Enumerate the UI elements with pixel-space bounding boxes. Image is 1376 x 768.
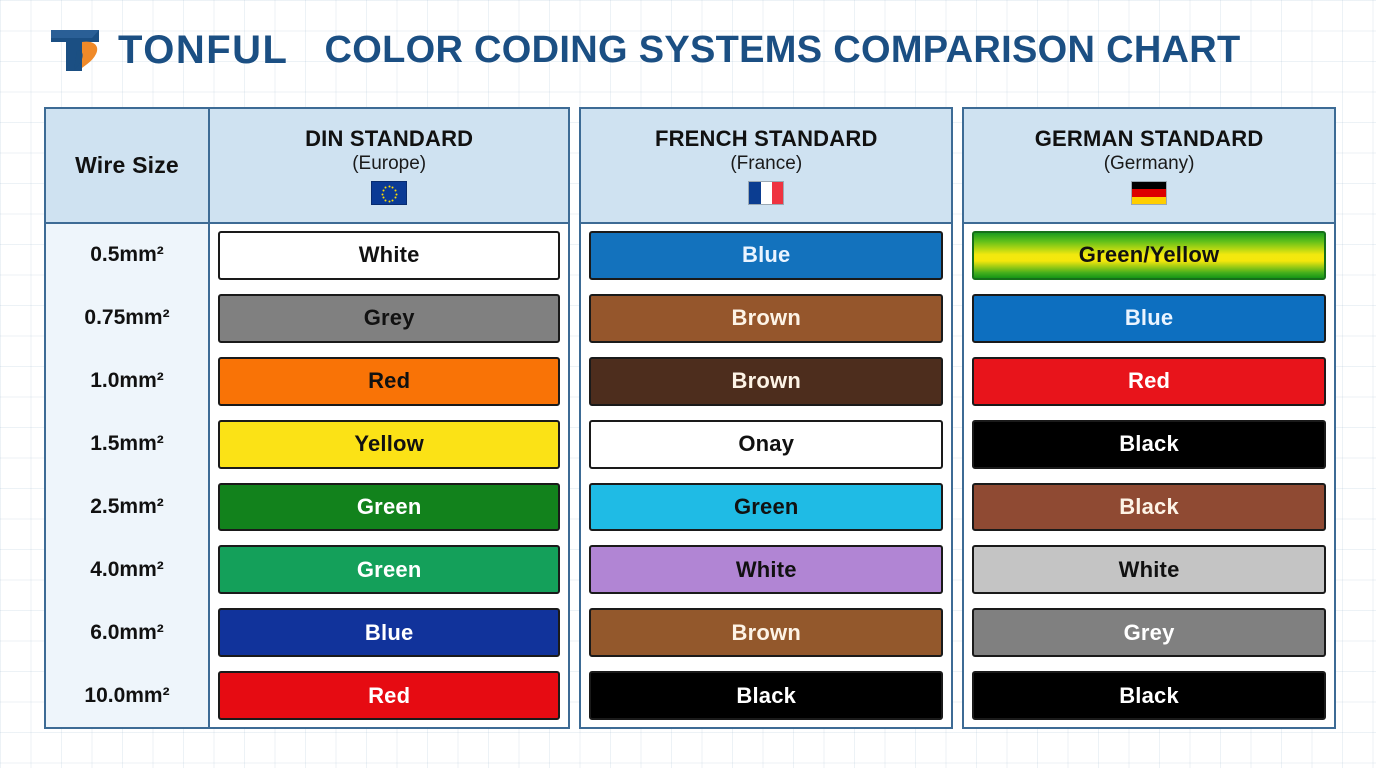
color-swatch-german[interactable]: Green/Yellow — [972, 231, 1326, 280]
german-subtitle: (Germany) — [1104, 152, 1195, 176]
swatch-cell: Black — [589, 664, 943, 727]
panel-din-standard: Wire Size DIN STANDARD (Europe) — [44, 107, 570, 729]
wire-size-cell: 0.5mm² — [46, 224, 208, 287]
comparison-table: Wire Size DIN STANDARD (Europe) — [44, 107, 1336, 729]
swatch-cell: Black — [972, 664, 1326, 727]
color-swatch-din[interactable]: Red — [218, 671, 560, 720]
color-swatch-german[interactable]: Red — [972, 357, 1326, 406]
page-header: TONFUL COLOR CODING SYSTEMS COMPARISON C… — [0, 0, 1376, 100]
swatch-cell: Green — [218, 476, 560, 539]
color-swatch-german[interactable]: Grey — [972, 608, 1326, 657]
swatch-cell: Grey — [972, 601, 1326, 664]
color-swatch-german[interactable]: Blue — [972, 294, 1326, 343]
panel-german-body: Green/YellowBlueRedBlackBlackWhiteGreyBl… — [964, 224, 1334, 727]
wire-size-cell: 1.5mm² — [46, 413, 208, 476]
color-swatch-german[interactable]: Black — [972, 483, 1326, 532]
wire-size-cell: 10.0mm² — [46, 664, 208, 727]
wire-size-label: Wire Size — [75, 152, 179, 178]
color-swatch-din[interactable]: White — [218, 231, 560, 280]
swatch-cell: Green — [218, 538, 560, 601]
swatch-cell: Red — [972, 350, 1326, 413]
wire-size-cell: 4.0mm² — [46, 538, 208, 601]
swatch-cell: Blue — [972, 287, 1326, 350]
color-swatch-din[interactable]: Blue — [218, 608, 560, 657]
germany-flag-icon — [1131, 181, 1167, 205]
column-header-french: FRENCH STANDARD (France) — [581, 109, 951, 222]
tonful-logo-icon — [46, 21, 104, 79]
page-title: COLOR CODING SYSTEMS COMPARISON CHART — [324, 29, 1240, 72]
color-swatch-din[interactable]: Grey — [218, 294, 560, 343]
panel-german-header: GERMAN STANDARD (Germany) — [964, 109, 1334, 224]
swatch-cell: Black — [972, 413, 1326, 476]
color-swatch-french[interactable]: Blue — [589, 231, 943, 280]
swatch-cell: Red — [218, 350, 560, 413]
panel-german-standard: GERMAN STANDARD (Germany) Green/YellowBl… — [962, 107, 1336, 729]
color-swatch-french[interactable]: Onay — [589, 420, 943, 469]
wire-size-cell: 0.75mm² — [46, 287, 208, 350]
french-title: FRENCH STANDARD — [655, 126, 878, 151]
color-swatch-french[interactable]: Black — [589, 671, 943, 720]
color-swatch-din[interactable]: Yellow — [218, 420, 560, 469]
french-subtitle: (France) — [730, 152, 802, 176]
french-swatch-column: BlueBrownBrownOnayGreenWhiteBrownBlack — [581, 224, 951, 727]
german-swatch-column: Green/YellowBlueRedBlackBlackWhiteGreyBl… — [964, 224, 1334, 727]
swatch-cell: Onay — [589, 413, 943, 476]
swatch-cell: Brown — [589, 601, 943, 664]
column-header-german: GERMAN STANDARD (Germany) — [964, 109, 1334, 222]
column-header-wire-size: Wire Size — [46, 109, 210, 222]
color-swatch-din[interactable]: Green — [218, 545, 560, 594]
swatch-cell: Grey — [218, 287, 560, 350]
swatch-cell: Red — [218, 664, 560, 727]
german-title: GERMAN STANDARD — [1035, 126, 1264, 151]
color-swatch-french[interactable]: White — [589, 545, 943, 594]
brand-name: TONFUL — [118, 28, 288, 73]
swatch-cell: White — [972, 538, 1326, 601]
color-swatch-french[interactable]: Green — [589, 483, 943, 532]
din-title: DIN STANDARD — [305, 126, 473, 151]
color-swatch-din[interactable]: Green — [218, 483, 560, 532]
swatch-cell: Black — [972, 476, 1326, 539]
swatch-cell: White — [589, 538, 943, 601]
swatch-cell: Green/Yellow — [972, 224, 1326, 287]
panel-din-body: 0.5mm²0.75mm²1.0mm²1.5mm²2.5mm²4.0mm²6.0… — [46, 224, 568, 727]
panel-french-standard: FRENCH STANDARD (France) BlueBrownBrownO… — [579, 107, 953, 729]
france-flag-icon — [748, 181, 784, 205]
swatch-cell: Blue — [218, 601, 560, 664]
panel-din-header: Wire Size DIN STANDARD (Europe) — [46, 109, 568, 224]
wire-size-column: 0.5mm²0.75mm²1.0mm²1.5mm²2.5mm²4.0mm²6.0… — [46, 224, 210, 727]
color-swatch-german[interactable]: White — [972, 545, 1326, 594]
wire-size-cell: 6.0mm² — [46, 601, 208, 664]
din-subtitle: (Europe) — [352, 152, 426, 176]
wire-size-cell: 2.5mm² — [46, 476, 208, 539]
color-swatch-french[interactable]: Brown — [589, 294, 943, 343]
swatch-cell: White — [218, 224, 560, 287]
din-swatch-column: WhiteGreyRedYellowGreenGreenBlueRed — [210, 224, 568, 727]
color-swatch-german[interactable]: Black — [972, 420, 1326, 469]
swatch-cell: Blue — [589, 224, 943, 287]
panel-french-header: FRENCH STANDARD (France) — [581, 109, 951, 224]
color-swatch-french[interactable]: Brown — [589, 608, 943, 657]
wire-size-cell: 1.0mm² — [46, 350, 208, 413]
color-swatch-din[interactable]: Red — [218, 357, 560, 406]
panel-french-body: BlueBrownBrownOnayGreenWhiteBrownBlack — [581, 224, 951, 727]
swatch-cell: Brown — [589, 287, 943, 350]
eu-flag-icon — [371, 181, 407, 205]
column-header-din: DIN STANDARD (Europe) — [210, 109, 568, 222]
swatch-cell: Green — [589, 476, 943, 539]
color-swatch-german[interactable]: Black — [972, 671, 1326, 720]
swatch-cell: Yellow — [218, 413, 560, 476]
swatch-cell: Brown — [589, 350, 943, 413]
color-swatch-french[interactable]: Brown — [589, 357, 943, 406]
